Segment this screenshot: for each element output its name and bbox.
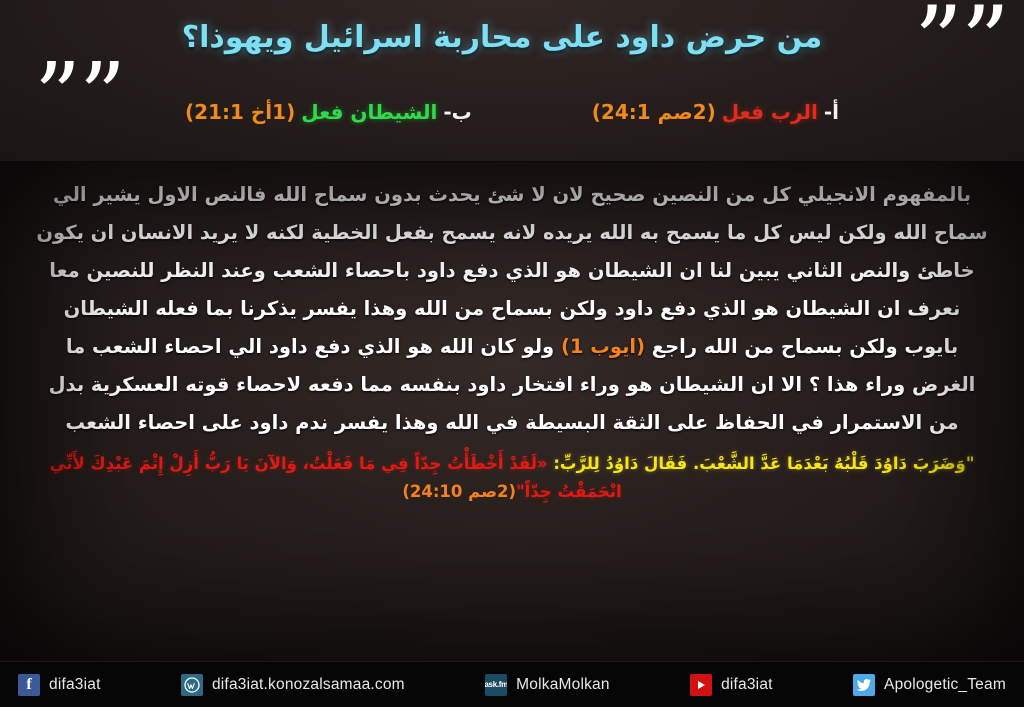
verse-reference: (2صم 24:10) [402, 482, 516, 501]
youtube-icon [690, 674, 712, 696]
askfm-icon: ask.fm [485, 674, 507, 696]
explanation-paragraph: بالمفهوم الانجيلي كل من النصين صحيح لان … [28, 176, 996, 442]
youtube-label: difa3iat [721, 676, 773, 694]
answer-a-marker: أ- [824, 100, 839, 124]
answer-b-marker: ب- [443, 100, 471, 124]
verse-open-quote: " [966, 454, 975, 473]
social-link-wordpress[interactable]: difa3iat.konozalsamaa.com [181, 674, 405, 696]
facebook-icon: f [18, 674, 40, 696]
explanation-text-part-1: بالمفهوم الانجيلي كل من النصين صحيح لان … [36, 183, 987, 358]
scripture-quotation: "وَضَرَبَ دَاوُدَ قَلْبُهُ بَعْدَمَا عَد… [28, 450, 996, 506]
answer-options: أ- الرب فعل (2صم 24:1) ب- الشيطان فعل (1… [0, 100, 1024, 124]
social-link-facebook[interactable]: f difa3iat [18, 674, 101, 696]
answer-a-reference: (2صم 24:1) [592, 100, 716, 124]
social-link-youtube[interactable]: difa3iat [690, 674, 773, 696]
facebook-label: difa3iat [49, 676, 101, 694]
twitter-label: Apologetic_Team [884, 676, 1006, 694]
askfm-label: MolkaMolkan [516, 676, 610, 694]
quotation-mark-icon-top-right: ”” [914, 6, 1008, 78]
wordpress-label: difa3iat.konozalsamaa.com [212, 676, 405, 694]
answer-option-a: أ- الرب فعل (2صم 24:1) [592, 100, 839, 124]
answer-explanation-body: بالمفهوم الانجيلي كل من النصين صحيح لان … [0, 162, 1024, 661]
wordpress-icon [181, 674, 203, 696]
answer-a-text: الرب فعل [722, 100, 818, 124]
page-title: من حرض داود على محاربة اسرائيل ويهوذا؟ [100, 20, 904, 55]
verse-text-red: «لَقَدْ أَخْطَأْتُ جِدّاً فِي مَا فَعَلْ… [50, 454, 622, 501]
social-link-askfm[interactable]: ask.fm MolkaMolkan [485, 674, 610, 696]
verse-text-yellow: وَضَرَبَ دَاوُدَ قَلْبُهُ بَعْدَمَا عَدَ… [548, 454, 966, 473]
answer-b-text: الشيطان فعل [301, 100, 437, 124]
explanation-highlight-reference: (ايوب 1) [561, 335, 645, 358]
twitter-icon [853, 674, 875, 696]
answer-option-b: ب- الشيطان فعل (1أخ 21:1) [185, 100, 472, 124]
poster-root: ”” ”” من حرض داود على محاربة اسرائيل ويه… [0, 0, 1024, 707]
social-link-twitter[interactable]: Apologetic_Team [853, 674, 1006, 696]
header-banner: ”” ”” من حرض داود على محاربة اسرائيل ويه… [0, 0, 1024, 162]
answer-b-reference: (1أخ 21:1) [185, 100, 295, 124]
social-footer-bar: f difa3iat difa3iat.konozalsamaa.com ask… [0, 661, 1024, 707]
